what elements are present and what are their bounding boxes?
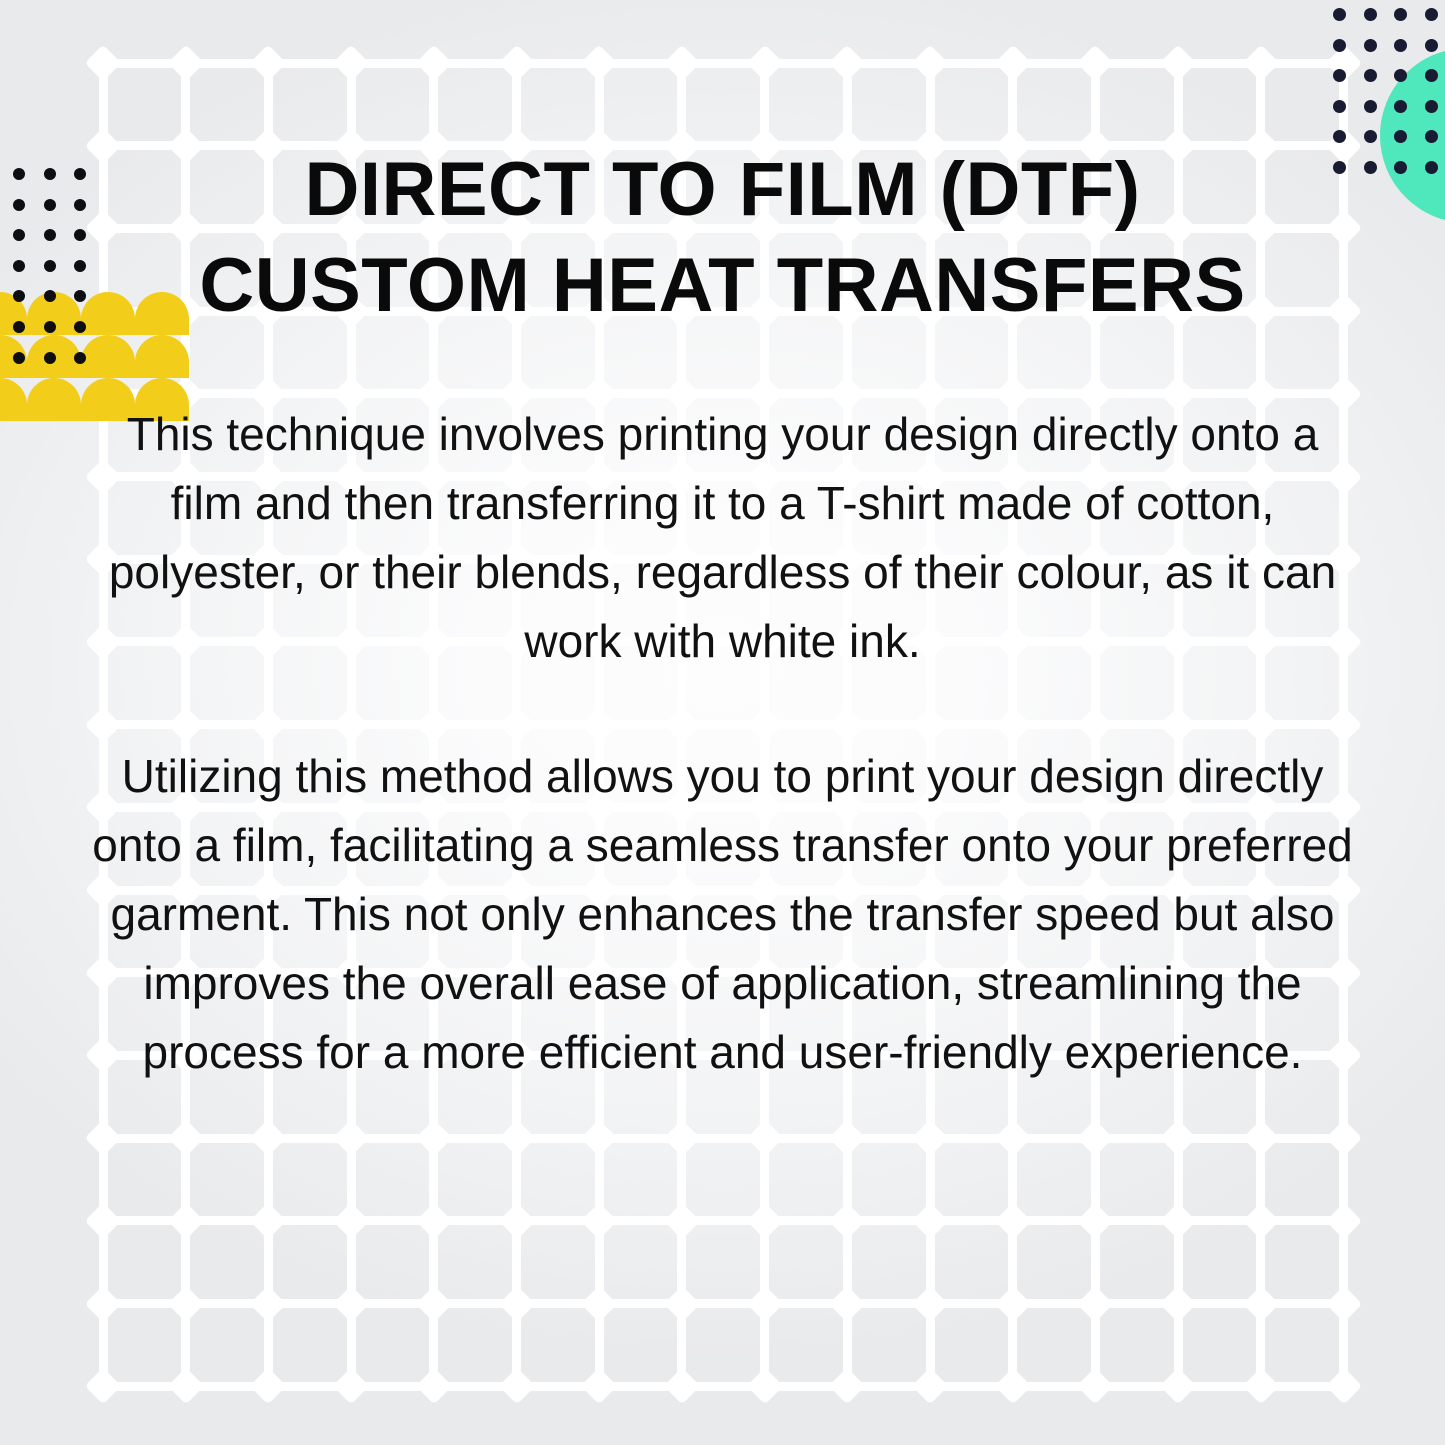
page-title: DIRECT TO FILM (DTF) CUSTOM HEAT TRANSFE… xyxy=(173,142,1273,334)
paragraph-2: Utilizing this method allows you to prin… xyxy=(90,742,1355,1087)
title-line-2: CUSTOM HEAT TRANSFERS xyxy=(173,238,1273,334)
poster-canvas: DIRECT TO FILM (DTF) CUSTOM HEAT TRANSFE… xyxy=(0,0,1445,1445)
title-line-1: DIRECT TO FILM (DTF) xyxy=(173,142,1273,238)
poster-content: DIRECT TO FILM (DTF) CUSTOM HEAT TRANSFE… xyxy=(0,0,1445,1445)
body-text: This technique involves printing your de… xyxy=(90,400,1355,1087)
paragraph-1: This technique involves printing your de… xyxy=(90,400,1355,676)
